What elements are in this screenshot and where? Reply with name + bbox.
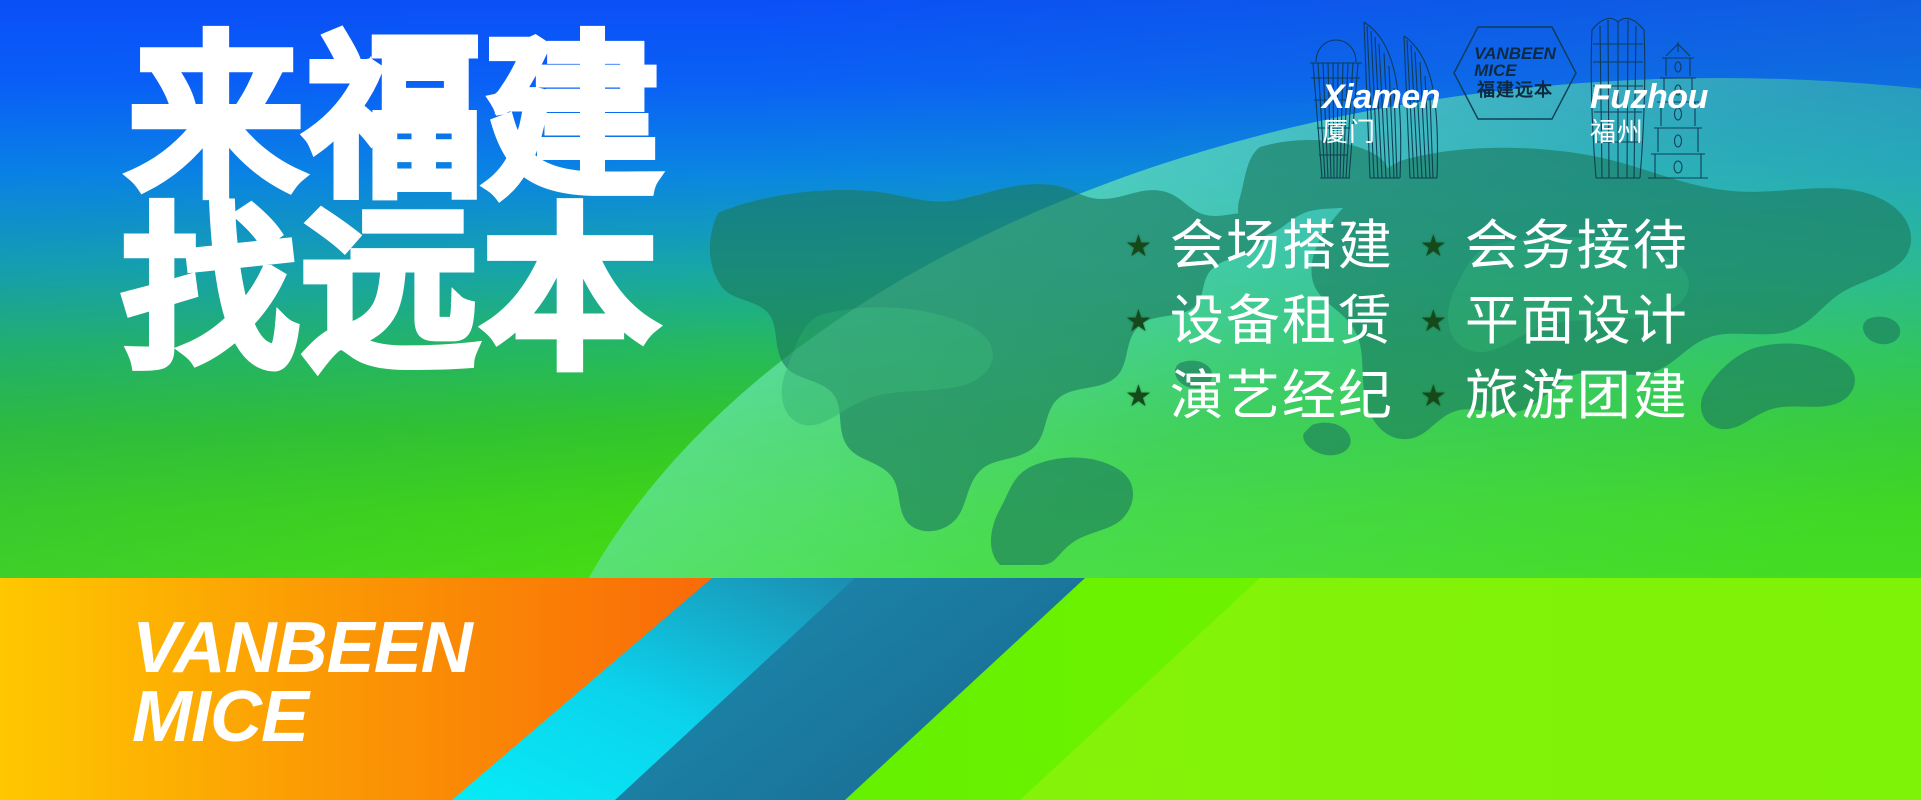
banner-background: 来福建 找远本 ★ 会场搭建 ★ 会务接待 ★ 设备租赁 ★ 平面设计 ★	[0, 0, 1921, 578]
service-list: ★ 会场搭建 ★ 会务接待 ★ 设备租赁 ★ 平面设计 ★ 演艺经纪 ★ 旅游团…	[1125, 212, 1689, 431]
hexlogo-line-2: MICE	[1474, 62, 1556, 79]
service-label: 会场搭建	[1170, 212, 1394, 281]
brand-line-2: MICE	[132, 683, 472, 752]
headline-line-2: 找远本	[122, 206, 662, 378]
service-item[interactable]: ★ 平面设计	[1420, 287, 1689, 356]
brand-wordmark: VANBEEN MICE	[132, 614, 472, 752]
xiamen-city-label: Xiamen 厦门	[1322, 80, 1440, 145]
service-label: 设备租赁	[1170, 287, 1394, 356]
service-item[interactable]: ★ 会场搭建	[1125, 212, 1394, 281]
page-title: 来福建 找远本	[128, 34, 662, 379]
fuzhou-city-label: Fuzhou 福州	[1590, 80, 1708, 145]
service-item[interactable]: ★ 会务接待	[1420, 212, 1689, 281]
service-item[interactable]: ★ 设备租赁	[1125, 287, 1394, 356]
hexlogo-line-3: 福建远本	[1477, 81, 1553, 101]
star-icon: ★	[1125, 307, 1154, 337]
fuzhou-name-zh: 福州	[1590, 119, 1708, 145]
vanbeen-hexagon-logo[interactable]: VANBEEN MICE 福建远本	[1449, 24, 1581, 122]
xiamen-name-zh: 厦门	[1322, 119, 1440, 145]
service-item[interactable]: ★ 演艺经纪	[1125, 362, 1394, 431]
service-item[interactable]: ★ 旅游团建	[1420, 362, 1689, 431]
fuzhou-name-en: Fuzhou	[1590, 80, 1708, 114]
star-icon: ★	[1125, 232, 1154, 262]
xiamen-name-en: Xiamen	[1322, 80, 1440, 114]
city-landmark-cluster: Xiamen 厦门 Fuzhou 福州 VANBEEN MICE 福建远本	[1300, 0, 1730, 185]
service-label: 会务接待	[1465, 212, 1689, 281]
service-label: 平面设计	[1465, 287, 1689, 356]
hexlogo-line-1: VANBEEN	[1474, 45, 1556, 62]
headline-line-1: 来福建	[128, 34, 662, 206]
brand-line-1: VANBEEN	[132, 608, 472, 688]
service-label: 演艺经纪	[1170, 362, 1394, 431]
star-icon: ★	[1420, 232, 1449, 262]
star-icon: ★	[1125, 382, 1154, 412]
promotional-banner: 来福建 找远本 ★ 会场搭建 ★ 会务接待 ★ 设备租赁 ★ 平面设计 ★	[0, 0, 1921, 800]
service-label: 旅游团建	[1465, 362, 1689, 431]
bottom-brand-bar: VANBEEN MICE	[0, 578, 1921, 800]
star-icon: ★	[1420, 382, 1449, 412]
star-icon: ★	[1420, 307, 1449, 337]
